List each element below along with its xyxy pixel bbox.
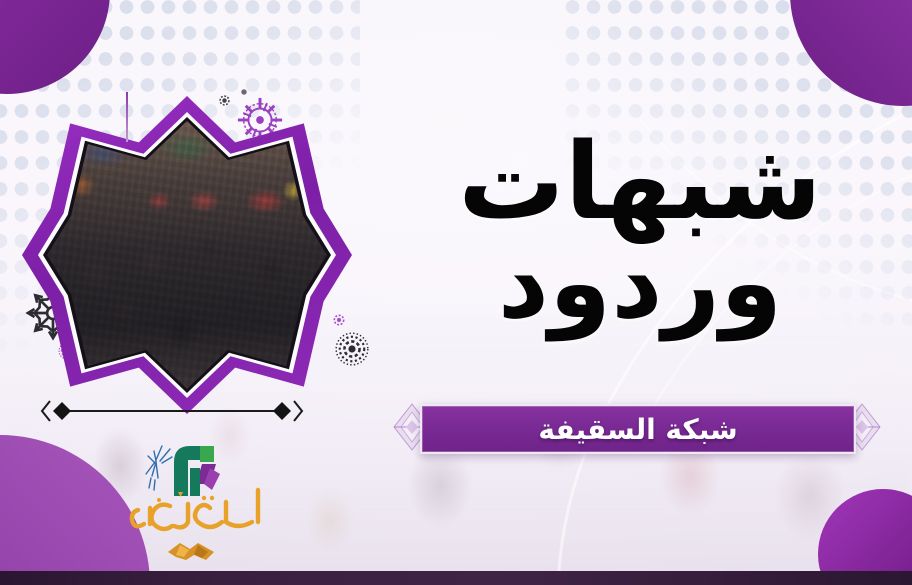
- network-name-banner: شبكة السقيفة: [420, 404, 856, 454]
- site-logo[interactable]: [130, 440, 260, 568]
- crowd-photo-texture: [47, 121, 327, 389]
- handshake-icon: [164, 536, 218, 566]
- title-line-2: وردود: [430, 232, 850, 334]
- diamond-arrow-divider-icon: [38, 398, 306, 424]
- photo-frame-star: [22, 96, 352, 414]
- page-title: شبهات وردود: [430, 128, 850, 334]
- bottom-strip: [0, 571, 912, 585]
- logo-wordmark: [126, 482, 266, 540]
- logo-stem-line: [126, 92, 128, 142]
- mandala-dot-top-icon: [240, 88, 248, 96]
- network-name-label: شبكة السقيفة: [538, 413, 737, 446]
- title-line-1: شبهات: [430, 128, 850, 236]
- poster-canvas: شبهات وردود شبكة السقيفة: [0, 0, 912, 585]
